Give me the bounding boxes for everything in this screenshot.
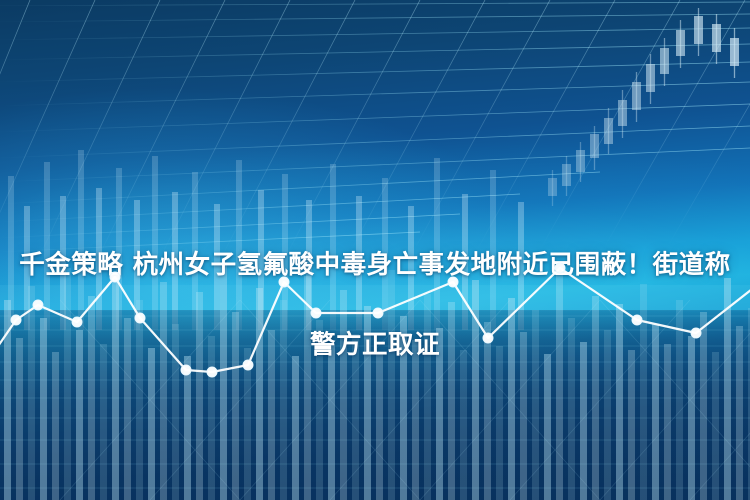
news-thumbnail: 千金策略 杭州女子氢氟酸中毒身亡事发地附近已围蔽！街道称 警方正取证: [0, 0, 750, 500]
trend-line-series: [0, 0, 750, 500]
